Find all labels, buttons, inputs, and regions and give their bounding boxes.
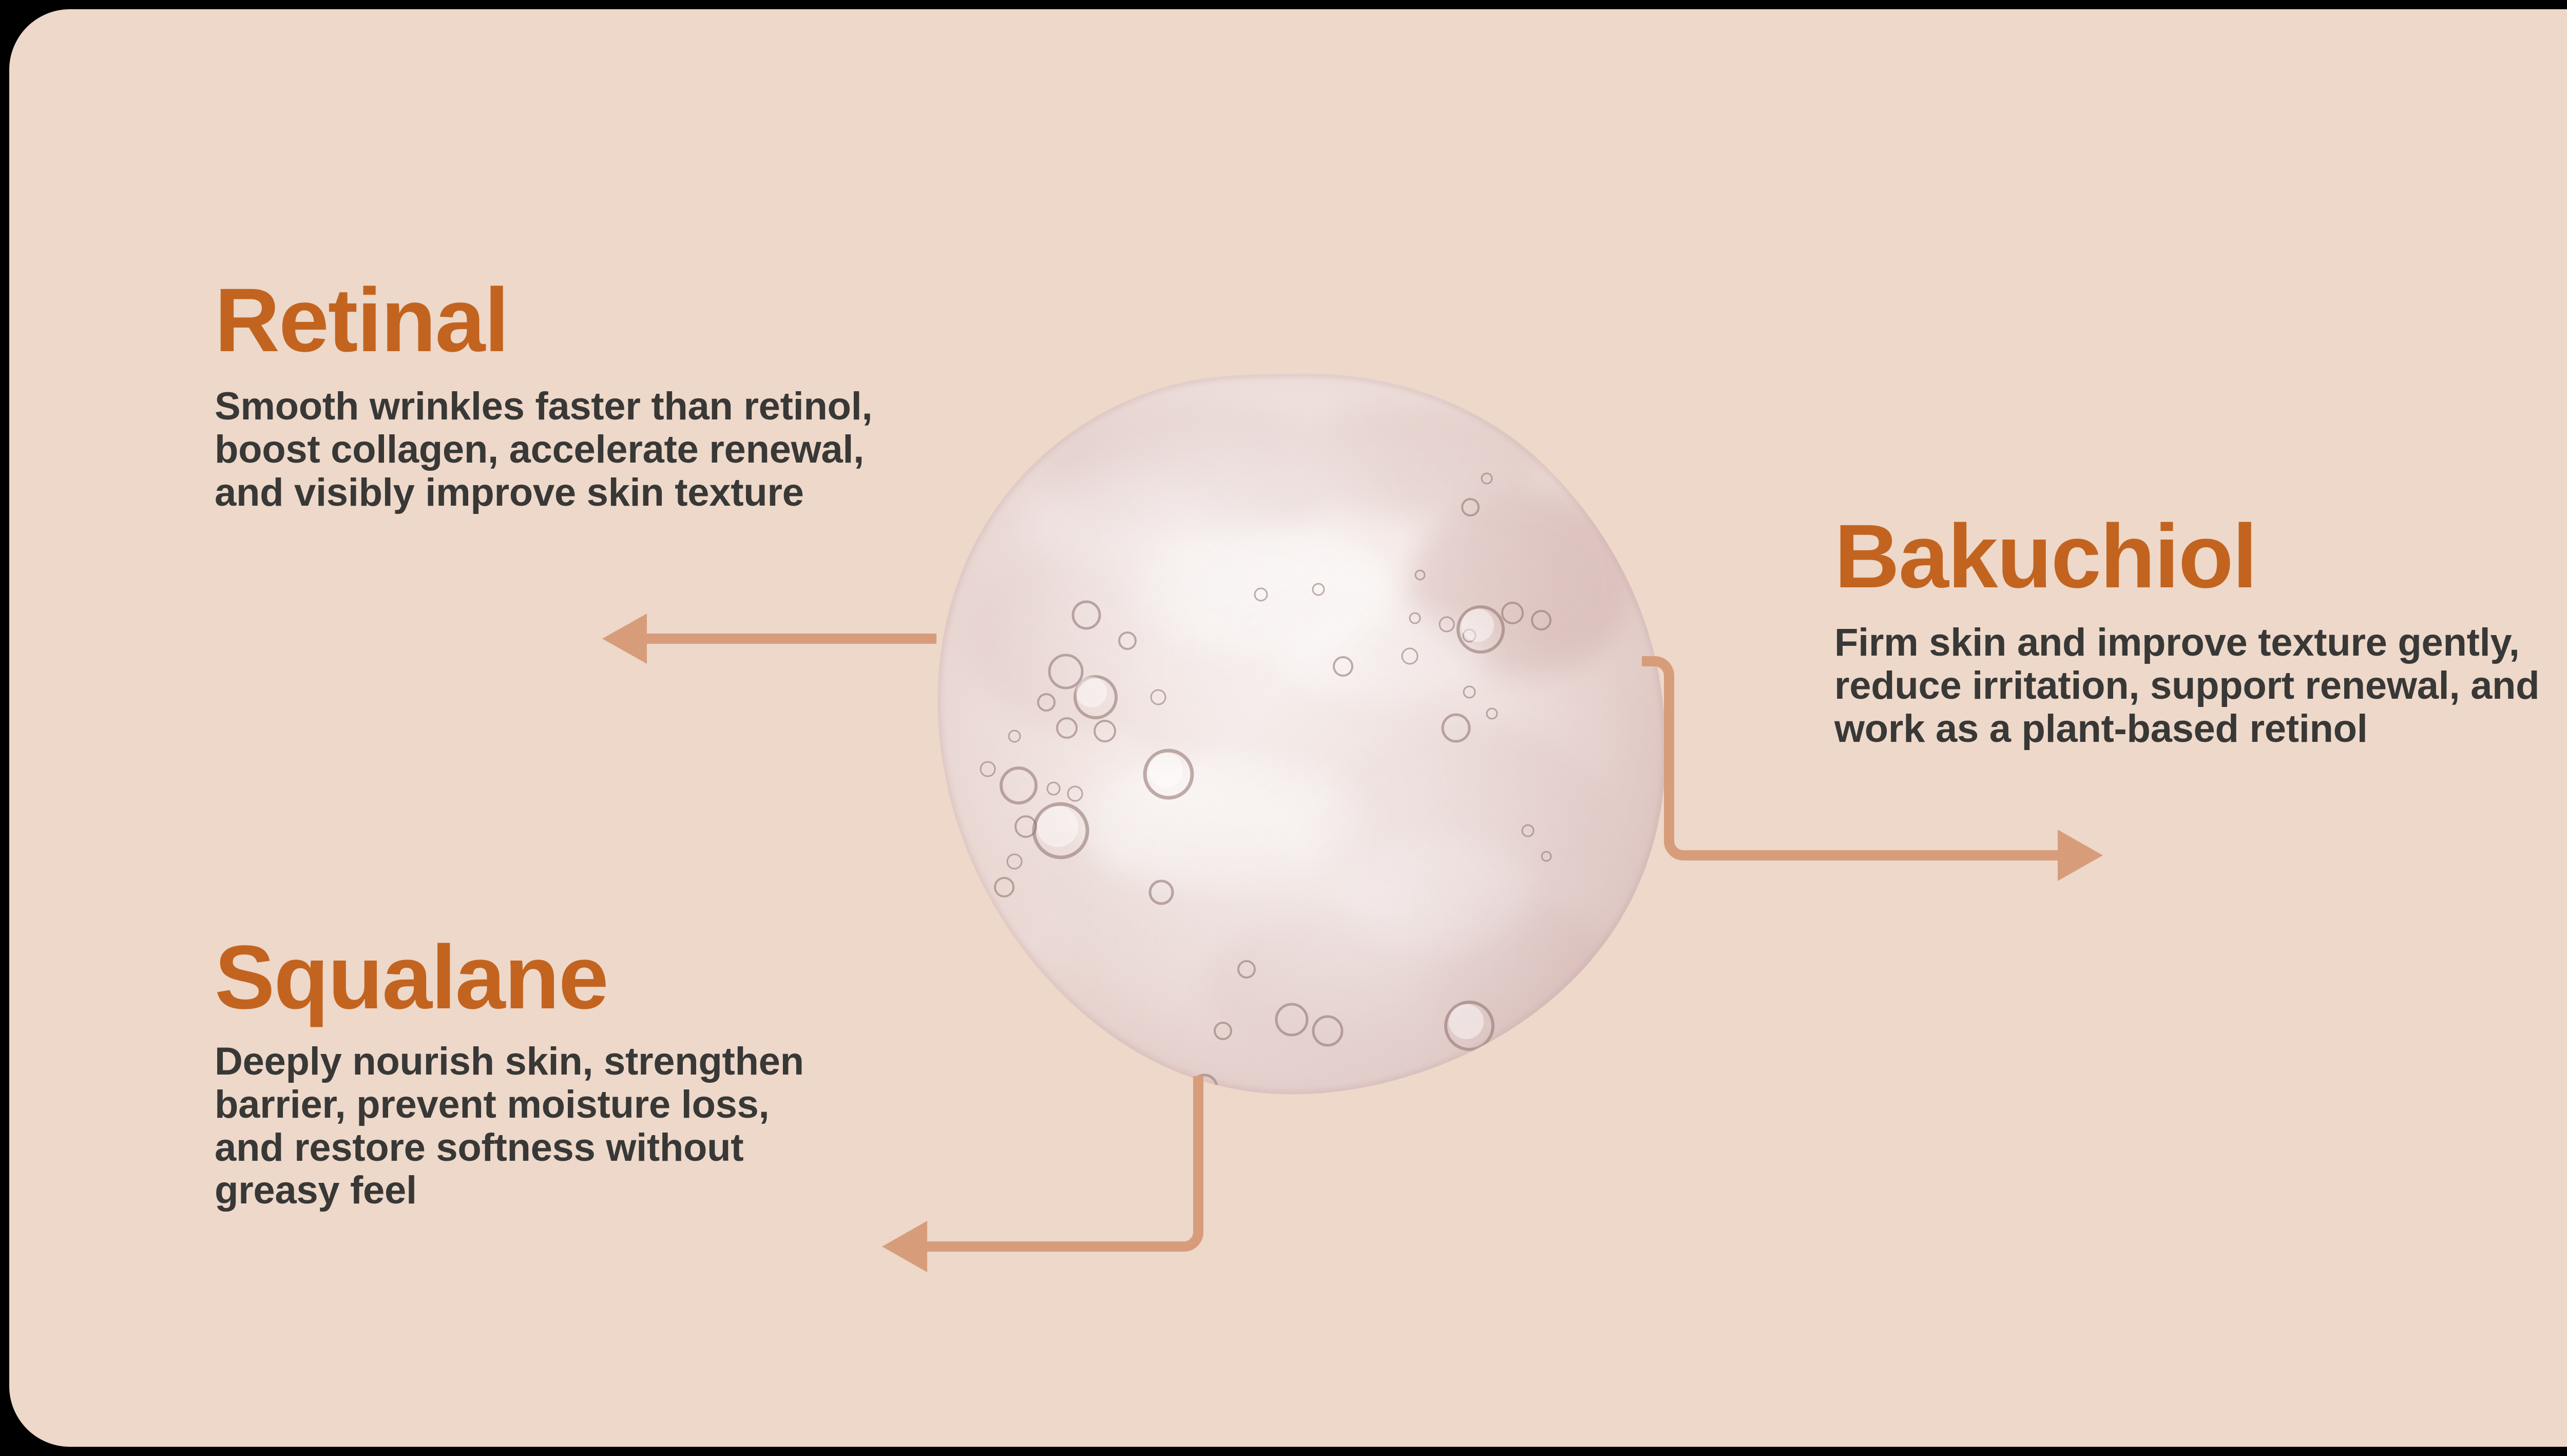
ingredient-block-retinal: Retinal Smooth wrinkles faster than reti… (215, 276, 944, 514)
infographic-card: Retinal Smooth wrinkles faster than reti… (9, 9, 2567, 1447)
connector-squalane (923, 1076, 1198, 1247)
description-squalane: Deeply nourish skin, strengthen barrier,… (215, 1040, 831, 1212)
infographic-stage: Retinal Smooth wrinkles faster than reti… (0, 0, 2567, 1456)
ingredient-block-squalane: Squalane Deeply nourish skin, strengthen… (215, 933, 944, 1212)
arrowhead-squalane (882, 1221, 927, 1272)
heading-bakuchiol: Bakuchiol (1834, 512, 2567, 601)
description-retinal: Smooth wrinkles faster than retinol, boo… (215, 385, 897, 514)
connector-retinal (602, 614, 936, 664)
ingredient-block-bakuchiol: Bakuchiol Firm skin and improve texture … (1834, 512, 2567, 750)
heading-squalane: Squalane (215, 933, 944, 1022)
arrowhead-bakuchiol (2058, 830, 2103, 881)
gel-serum-blob (932, 369, 1677, 1110)
description-bakuchiol: Firm skin and improve texture gently, re… (1834, 621, 2553, 750)
heading-retinal: Retinal (215, 276, 944, 365)
